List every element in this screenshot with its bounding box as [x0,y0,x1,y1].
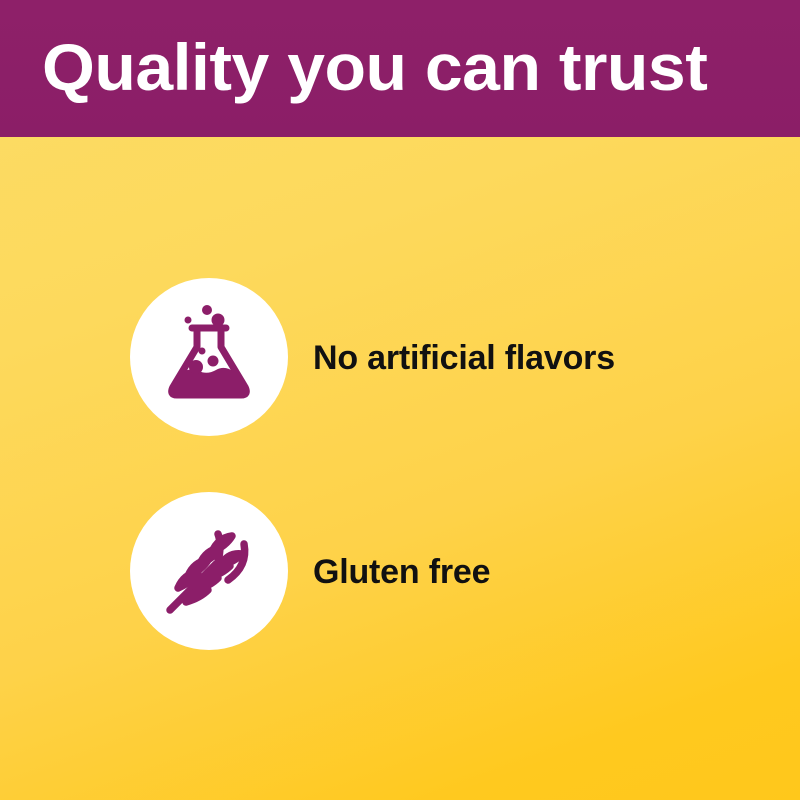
flask-bubble-right [212,314,225,327]
flask-liquid [174,368,244,393]
flask-bubble-top [202,305,212,315]
flask-bubble-inner-small [199,348,206,355]
icon-badge [130,492,288,650]
flask-bubble-left [185,317,192,324]
header-banner: Quality you can trust [0,0,800,137]
flask-bubble-inner-large [189,360,203,374]
feature-label: Gluten free [313,553,490,592]
page-title: Quality you can trust [42,28,800,106]
feature-label: No artificial flavors [313,339,615,378]
flask-icon [153,301,265,413]
flask-bubble-inner-medium [208,356,219,367]
feature-row: Gluten free [0,492,800,650]
icon-badge [130,278,288,436]
wheat-icon [156,518,262,624]
feature-row: No artificial flavors [0,278,800,436]
quality-claims-poster: Quality you can trust [0,0,800,800]
